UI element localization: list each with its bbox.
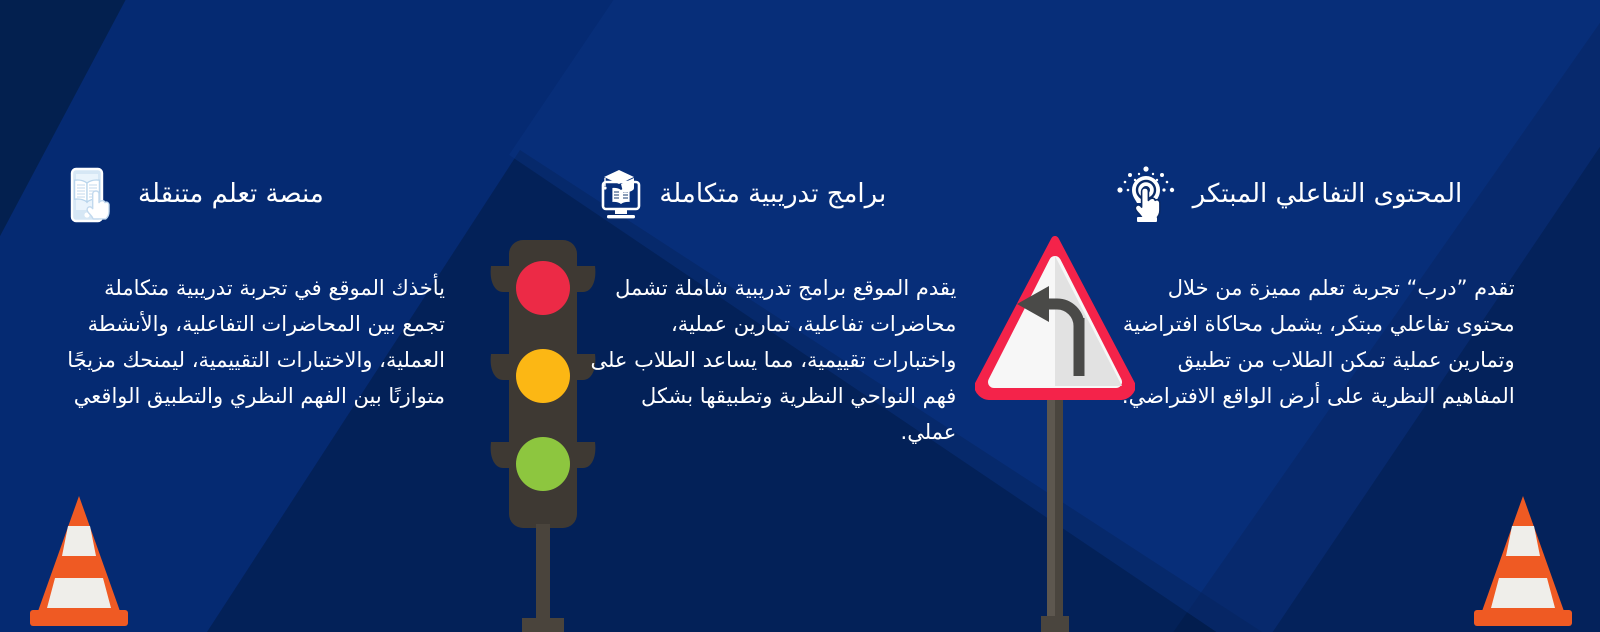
feature-body-integrated-programs: يقدم الموقع برامج تدريبية شاملة تشمل محا… [581, 270, 956, 451]
feature-body-interactive-content: تقدم ”درب“ تجربة تعلم مميزة من خلال محتو… [1115, 270, 1515, 414]
feature-title-mobile-platform: منصة تعلم متنقلة [138, 179, 324, 210]
graduation-cap-monitor-icon [581, 166, 643, 224]
traffic-cone-left [20, 490, 138, 632]
feature-body-mobile-platform: يأخذك الموقع في تجربة تدريبية متكاملة تج… [60, 270, 445, 414]
features-columns: المحتوى التفاعلي المبتكر تقدم ”درب“ تجرب… [0, 0, 1600, 632]
feature-column-integrated-programs: برامج تدريبية متكاملة يقدم الموقع برامج … [533, 0, 1066, 632]
feature-header-interactive-content: المحتوى التفاعلي المبتكر [1115, 166, 1540, 224]
feature-title-integrated-programs: برامج تدريبية متكاملة [659, 179, 886, 210]
mobile-book-hand-icon [60, 166, 122, 224]
feature-header-mobile-platform: منصة تعلم متنقلة [60, 166, 485, 224]
traffic-cone-right [1464, 490, 1582, 632]
feature-title-interactive-content: المحتوى التفاعلي المبتكر [1193, 179, 1463, 210]
lightbulb-touch-icon [1115, 166, 1177, 224]
feature-header-integrated-programs: برامج تدريبية متكاملة [581, 166, 1006, 224]
